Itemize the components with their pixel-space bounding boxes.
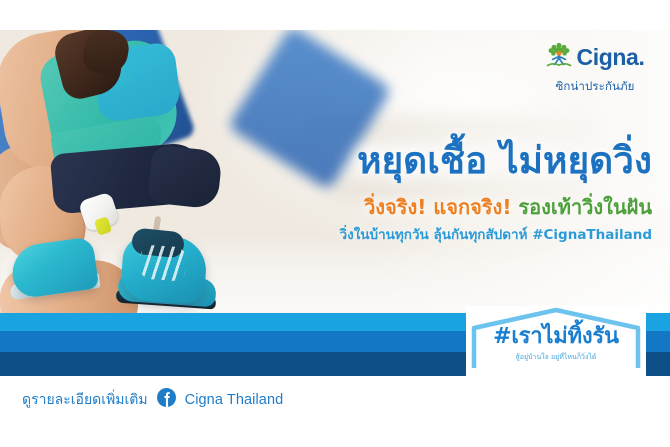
facebook-icon[interactable]: [157, 388, 176, 412]
cigna-logo: Cigna. ซิกน่าประกันภัย: [536, 40, 654, 96]
facebook-page-name[interactable]: Cigna Thailand: [185, 393, 284, 408]
headline: หยุดเชื้อ ไม่หยุดวิ่ง: [232, 138, 652, 184]
badge-subtext: สู้อยู่บ้านใจ อยู่ที่ไหนก็วิ่งได้: [466, 354, 646, 361]
subheadline-green: รองเท้าวิ่งในฝัน: [518, 195, 652, 219]
campaign-copy: หยุดเชื้อ ไม่หยุดวิ่ง วิ่งจริง! แจกจริง!…: [232, 138, 652, 245]
footer-bar: ดูรายละเอียดเพิ่มเติม Cigna Thailand: [0, 376, 670, 447]
shoe-right-laces: [139, 244, 187, 281]
cigna-tree-icon: [546, 40, 572, 75]
navy-shorts-side: [147, 145, 223, 210]
subheadline: วิ่งจริง! แจกจริง! รองเท้าวิ่งในฝัน: [232, 194, 652, 220]
cigna-campaign-banner: Cigna. ซิกน่าประกันภัย หยุดเชื้อ ไม่หยุด…: [0, 0, 670, 447]
tagline: วิ่งในบ้านทุกวัน ลุ้นกันทุกสัปดาห์ #Cign…: [232, 227, 652, 245]
badge-hashtag: #เราไม่ทิ้งรัน: [466, 326, 646, 348]
cigna-wordmark: Cigna.: [577, 46, 645, 69]
cigna-logo-period: .: [638, 44, 644, 70]
footer-thai-label: ดูรายละเอียดเพิ่มเติม: [22, 393, 148, 407]
subheadline-orange: วิ่งจริง! แจกจริง!: [364, 195, 511, 219]
footer-link-row[interactable]: ดูรายละเอียดเพิ่มเติม Cigna Thailand: [22, 388, 283, 412]
hashtag-badge: #เราไม่ทิ้งรัน สู้อยู่บ้านใจ อยู่ที่ไหนก…: [466, 306, 646, 376]
cigna-logo-thai: ซิกน่าประกันภัย: [536, 78, 654, 96]
